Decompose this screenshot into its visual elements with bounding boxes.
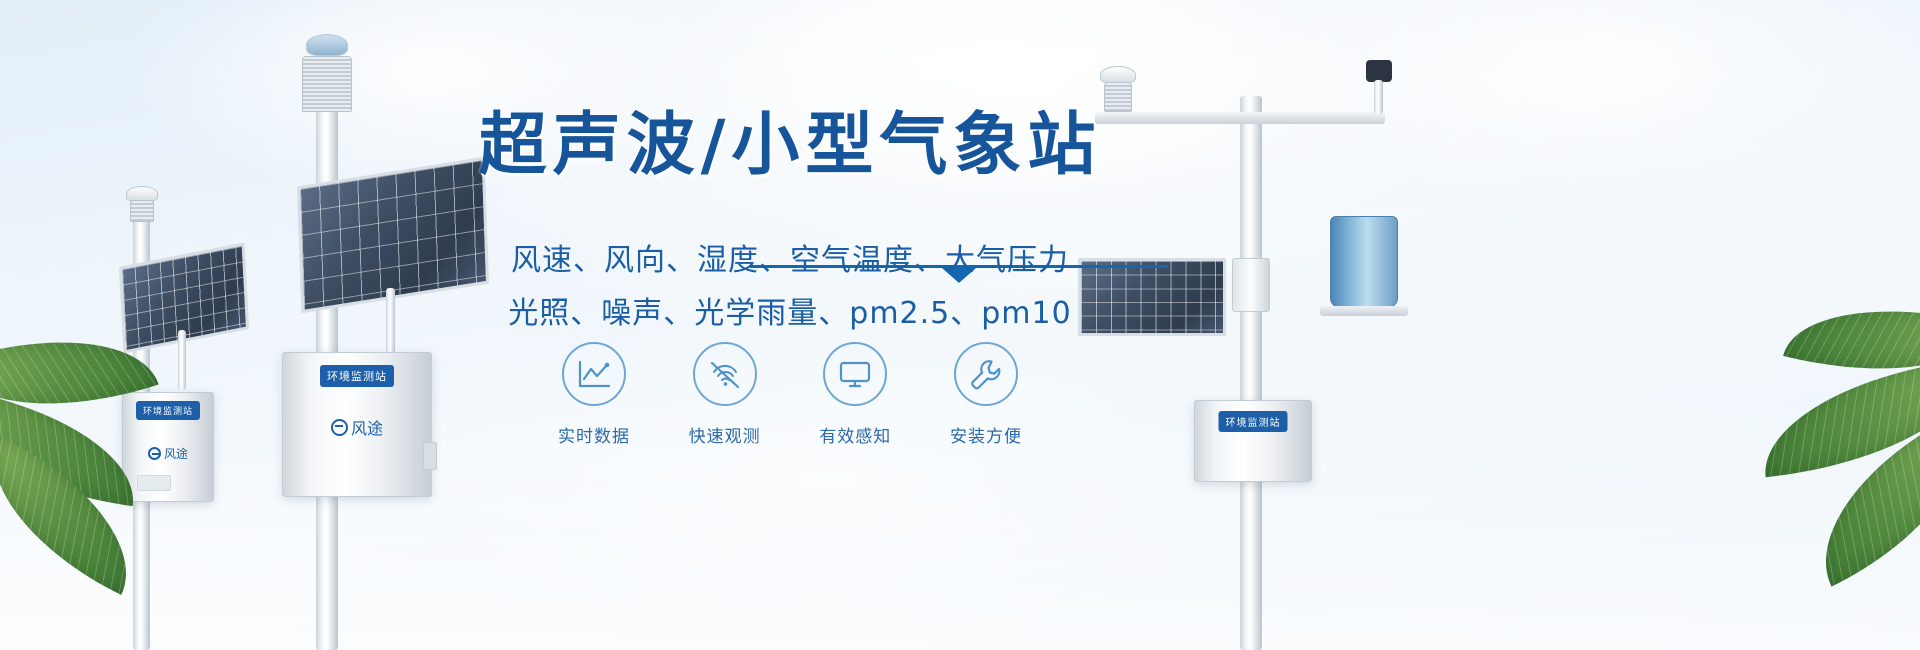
- feature-label: 实时数据: [540, 422, 648, 447]
- feature-label: 安装方便: [932, 422, 1040, 447]
- wrench-icon: [954, 342, 1018, 406]
- feature-item-effective-sensing[interactable]: 有效感知: [801, 342, 909, 447]
- radar-signal-icon: [693, 342, 757, 406]
- feature-item-fast-observation[interactable]: 快速观测: [671, 342, 779, 447]
- feature-label: 快速观测: [671, 422, 779, 447]
- line-chart-icon: [562, 342, 626, 406]
- page-title: 超声波/小型气象站: [440, 112, 1140, 180]
- monitor-icon: [823, 342, 887, 406]
- feature-item-easy-install[interactable]: 安装方便: [932, 342, 1040, 447]
- feature-item-realtime-data[interactable]: 实时数据: [540, 342, 648, 447]
- feature-label: 有效感知: [801, 422, 909, 447]
- subtitle-line-2: 光照、噪声、光学雨量、pm2.5、pm10: [440, 288, 1140, 332]
- feature-list: 实时数据 快速观测: [540, 342, 1040, 447]
- product-banner: 环境监测站 风途 环境监测站 风途: [0, 0, 1920, 650]
- subtitle-line-1: 风速、风向、湿度、空气温度、大气压力: [440, 235, 1140, 279]
